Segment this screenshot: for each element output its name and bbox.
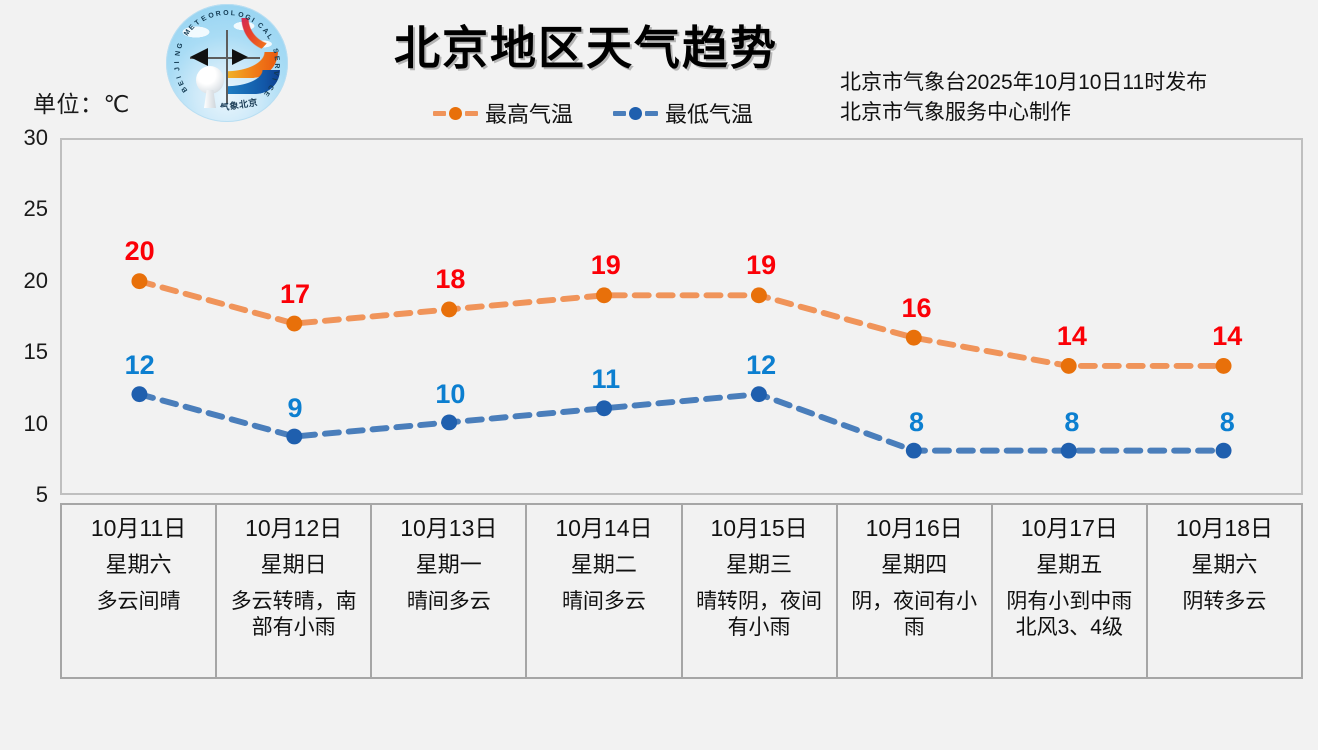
publish-info: 北京市气象台2025年10月10日11时发布 北京市气象服务中心制作 xyxy=(840,68,1207,129)
data-point-label: 8 xyxy=(1220,407,1235,438)
forecast-weekday: 星期日 xyxy=(223,553,364,576)
data-point-marker xyxy=(751,287,767,303)
forecast-description: 晴转阴，夜间有小雨 xyxy=(689,589,830,642)
data-point-marker xyxy=(906,443,922,459)
data-point-label: 20 xyxy=(125,236,155,267)
data-point-label: 10 xyxy=(435,379,465,410)
data-point-label: 12 xyxy=(746,350,776,381)
forecast-description: 晴间多云 xyxy=(378,589,519,615)
beijing-meteorological-service-logo-icon: BEIJING METEOROLOGICAL SERVICE 气象北京 xyxy=(166,4,288,122)
forecast-weekday: 星期一 xyxy=(378,553,519,576)
y-axis-tick: 30 xyxy=(24,125,48,151)
forecast-date: 10月11日 xyxy=(68,516,209,540)
data-point-label: 12 xyxy=(125,350,155,381)
data-point-label: 8 xyxy=(909,407,924,438)
data-point-marker xyxy=(286,316,302,332)
forecast-weekday: 星期六 xyxy=(68,553,209,576)
data-point-marker xyxy=(1216,358,1232,374)
page-title: 北京地区天气趋势 xyxy=(394,12,778,78)
y-axis-tick: 5 xyxy=(36,482,48,508)
forecast-day-table: 10月11日星期六多云间晴10月12日星期日多云转晴，南部有小雨10月13日星期… xyxy=(60,503,1303,679)
forecast-date: 10月12日 xyxy=(223,516,364,540)
y-axis-tick: 25 xyxy=(24,196,48,222)
data-point-label: 11 xyxy=(592,364,621,395)
plot-area: 2017181919161414129101112888 xyxy=(60,138,1303,495)
forecast-weekday: 星期五 xyxy=(999,553,1140,576)
data-point-label: 18 xyxy=(435,264,465,295)
y-axis-tick: 15 xyxy=(24,339,48,365)
chart-lines-svg xyxy=(62,140,1301,493)
forecast-date: 10月13日 xyxy=(378,516,519,540)
forecast-description: 多云间晴 xyxy=(68,589,209,615)
legend-marker-high-icon xyxy=(433,107,478,120)
forecast-weekday: 星期四 xyxy=(844,553,985,576)
data-point-label: 8 xyxy=(1064,407,1079,438)
data-point-label: 16 xyxy=(902,293,932,324)
forecast-description: 阴转多云 xyxy=(1154,589,1295,615)
data-point-marker xyxy=(596,400,612,416)
data-point-marker xyxy=(441,302,457,318)
unit-label: 单位：℃ xyxy=(33,85,130,119)
data-point-label: 17 xyxy=(280,279,310,310)
forecast-date: 10月17日 xyxy=(999,516,1140,540)
forecast-day-column: 10月12日星期日多云转晴，南部有小雨 xyxy=(217,505,372,677)
forecast-day-column: 10月17日星期五阴有小到中雨北风3、4级 xyxy=(993,505,1148,677)
forecast-description: 阴，夜间有小雨 xyxy=(844,589,985,642)
data-point-marker xyxy=(906,330,922,346)
legend-item-low: 最低气温 xyxy=(613,97,753,129)
chart-legend: 最高气温 最低气温 xyxy=(433,97,753,129)
data-point-marker xyxy=(131,273,147,289)
legend-label-low: 最低气温 xyxy=(665,97,753,129)
data-point-marker xyxy=(441,414,457,430)
data-point-marker xyxy=(751,386,767,402)
data-point-marker xyxy=(286,429,302,445)
y-axis-tick: 10 xyxy=(24,411,48,437)
data-point-marker xyxy=(1061,443,1077,459)
data-point-label: 9 xyxy=(288,393,303,424)
header: 单位：℃ BEIJING METEOROLOGICAL SERVICE 气象北京… xyxy=(0,0,1318,132)
forecast-weekday: 星期二 xyxy=(533,553,674,576)
y-axis-tick: 20 xyxy=(24,268,48,294)
legend-marker-low-icon xyxy=(613,107,658,120)
data-point-label: 19 xyxy=(591,250,621,281)
forecast-date: 10月15日 xyxy=(689,516,830,540)
forecast-date: 10月16日 xyxy=(844,516,985,540)
data-point-label: 14 xyxy=(1212,321,1242,352)
forecast-weekday: 星期三 xyxy=(689,553,830,576)
forecast-weekday: 星期六 xyxy=(1154,553,1295,576)
forecast-description: 阴有小到中雨北风3、4级 xyxy=(999,589,1140,642)
forecast-day-column: 10月15日星期三晴转阴，夜间有小雨 xyxy=(683,505,838,677)
forecast-day-column: 10月18日星期六阴转多云 xyxy=(1148,505,1303,677)
forecast-date: 10月14日 xyxy=(533,516,674,540)
data-point-marker xyxy=(596,287,612,303)
chart-plot-wrapper: 30252015105 2017181919161414129101112888 xyxy=(0,130,1318,502)
data-point-marker xyxy=(1061,358,1077,374)
data-point-label: 19 xyxy=(746,250,776,281)
forecast-day-column: 10月14日星期二晴间多云 xyxy=(527,505,682,677)
forecast-day-column: 10月11日星期六多云间晴 xyxy=(62,505,217,677)
forecast-date: 10月18日 xyxy=(1154,516,1295,540)
legend-label-high: 最高气温 xyxy=(485,97,573,129)
forecast-day-column: 10月13日星期一晴间多云 xyxy=(372,505,527,677)
y-axis: 30252015105 xyxy=(0,130,56,495)
forecast-description: 多云转晴，南部有小雨 xyxy=(223,589,364,642)
data-point-label: 14 xyxy=(1057,321,1087,352)
data-point-marker xyxy=(1216,443,1232,459)
data-point-marker xyxy=(131,386,147,402)
forecast-day-column: 10月16日星期四阴，夜间有小雨 xyxy=(838,505,993,677)
legend-item-high: 最高气温 xyxy=(433,97,573,129)
forecast-description: 晴间多云 xyxy=(533,589,674,615)
